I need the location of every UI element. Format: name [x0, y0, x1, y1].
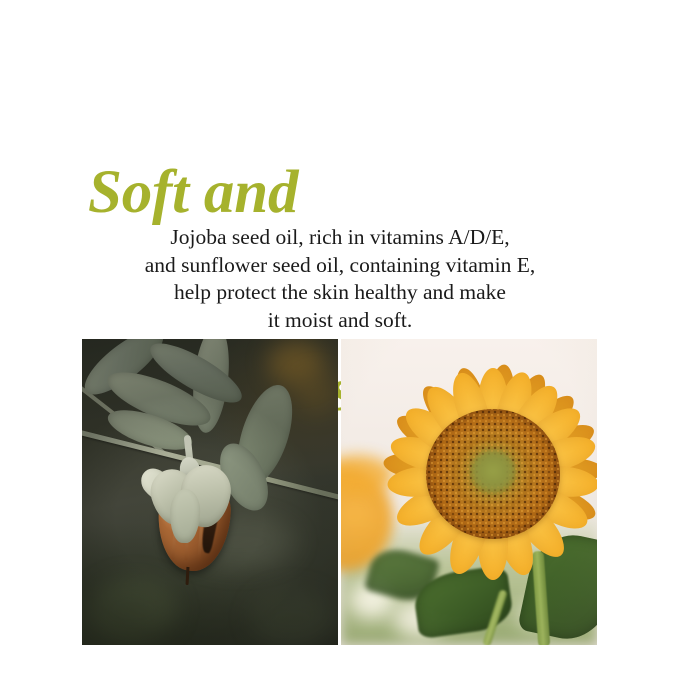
background-bokeh: [296, 373, 338, 413]
description-line-1: Jojoba seed oil, rich in vitamins A/D/E,: [40, 224, 640, 252]
sunflower-photo: [341, 339, 597, 645]
sunflower-head: [385, 363, 597, 585]
description-line-2: and sunflower seed oil, containing vitam…: [40, 252, 640, 280]
sunflower-seed-disc: [426, 409, 560, 539]
product-description: Jojoba seed oil, rich in vitamins A/D/E,…: [40, 224, 640, 334]
ingredient-photo-strip: [82, 339, 597, 645]
product-info-panel: Soft and moist sunscreen Jojoba seed oil…: [0, 0, 679, 679]
page-title-line-1: Soft and: [88, 160, 628, 226]
background-bokeh: [88, 577, 178, 641]
jojoba-seed-photo: [82, 339, 338, 645]
description-line-3: help protect the skin healthy and make: [40, 279, 640, 307]
background-bokeh: [250, 589, 334, 645]
seed-tip: [186, 567, 190, 585]
description-line-4: it moist and soft.: [40, 307, 640, 335]
